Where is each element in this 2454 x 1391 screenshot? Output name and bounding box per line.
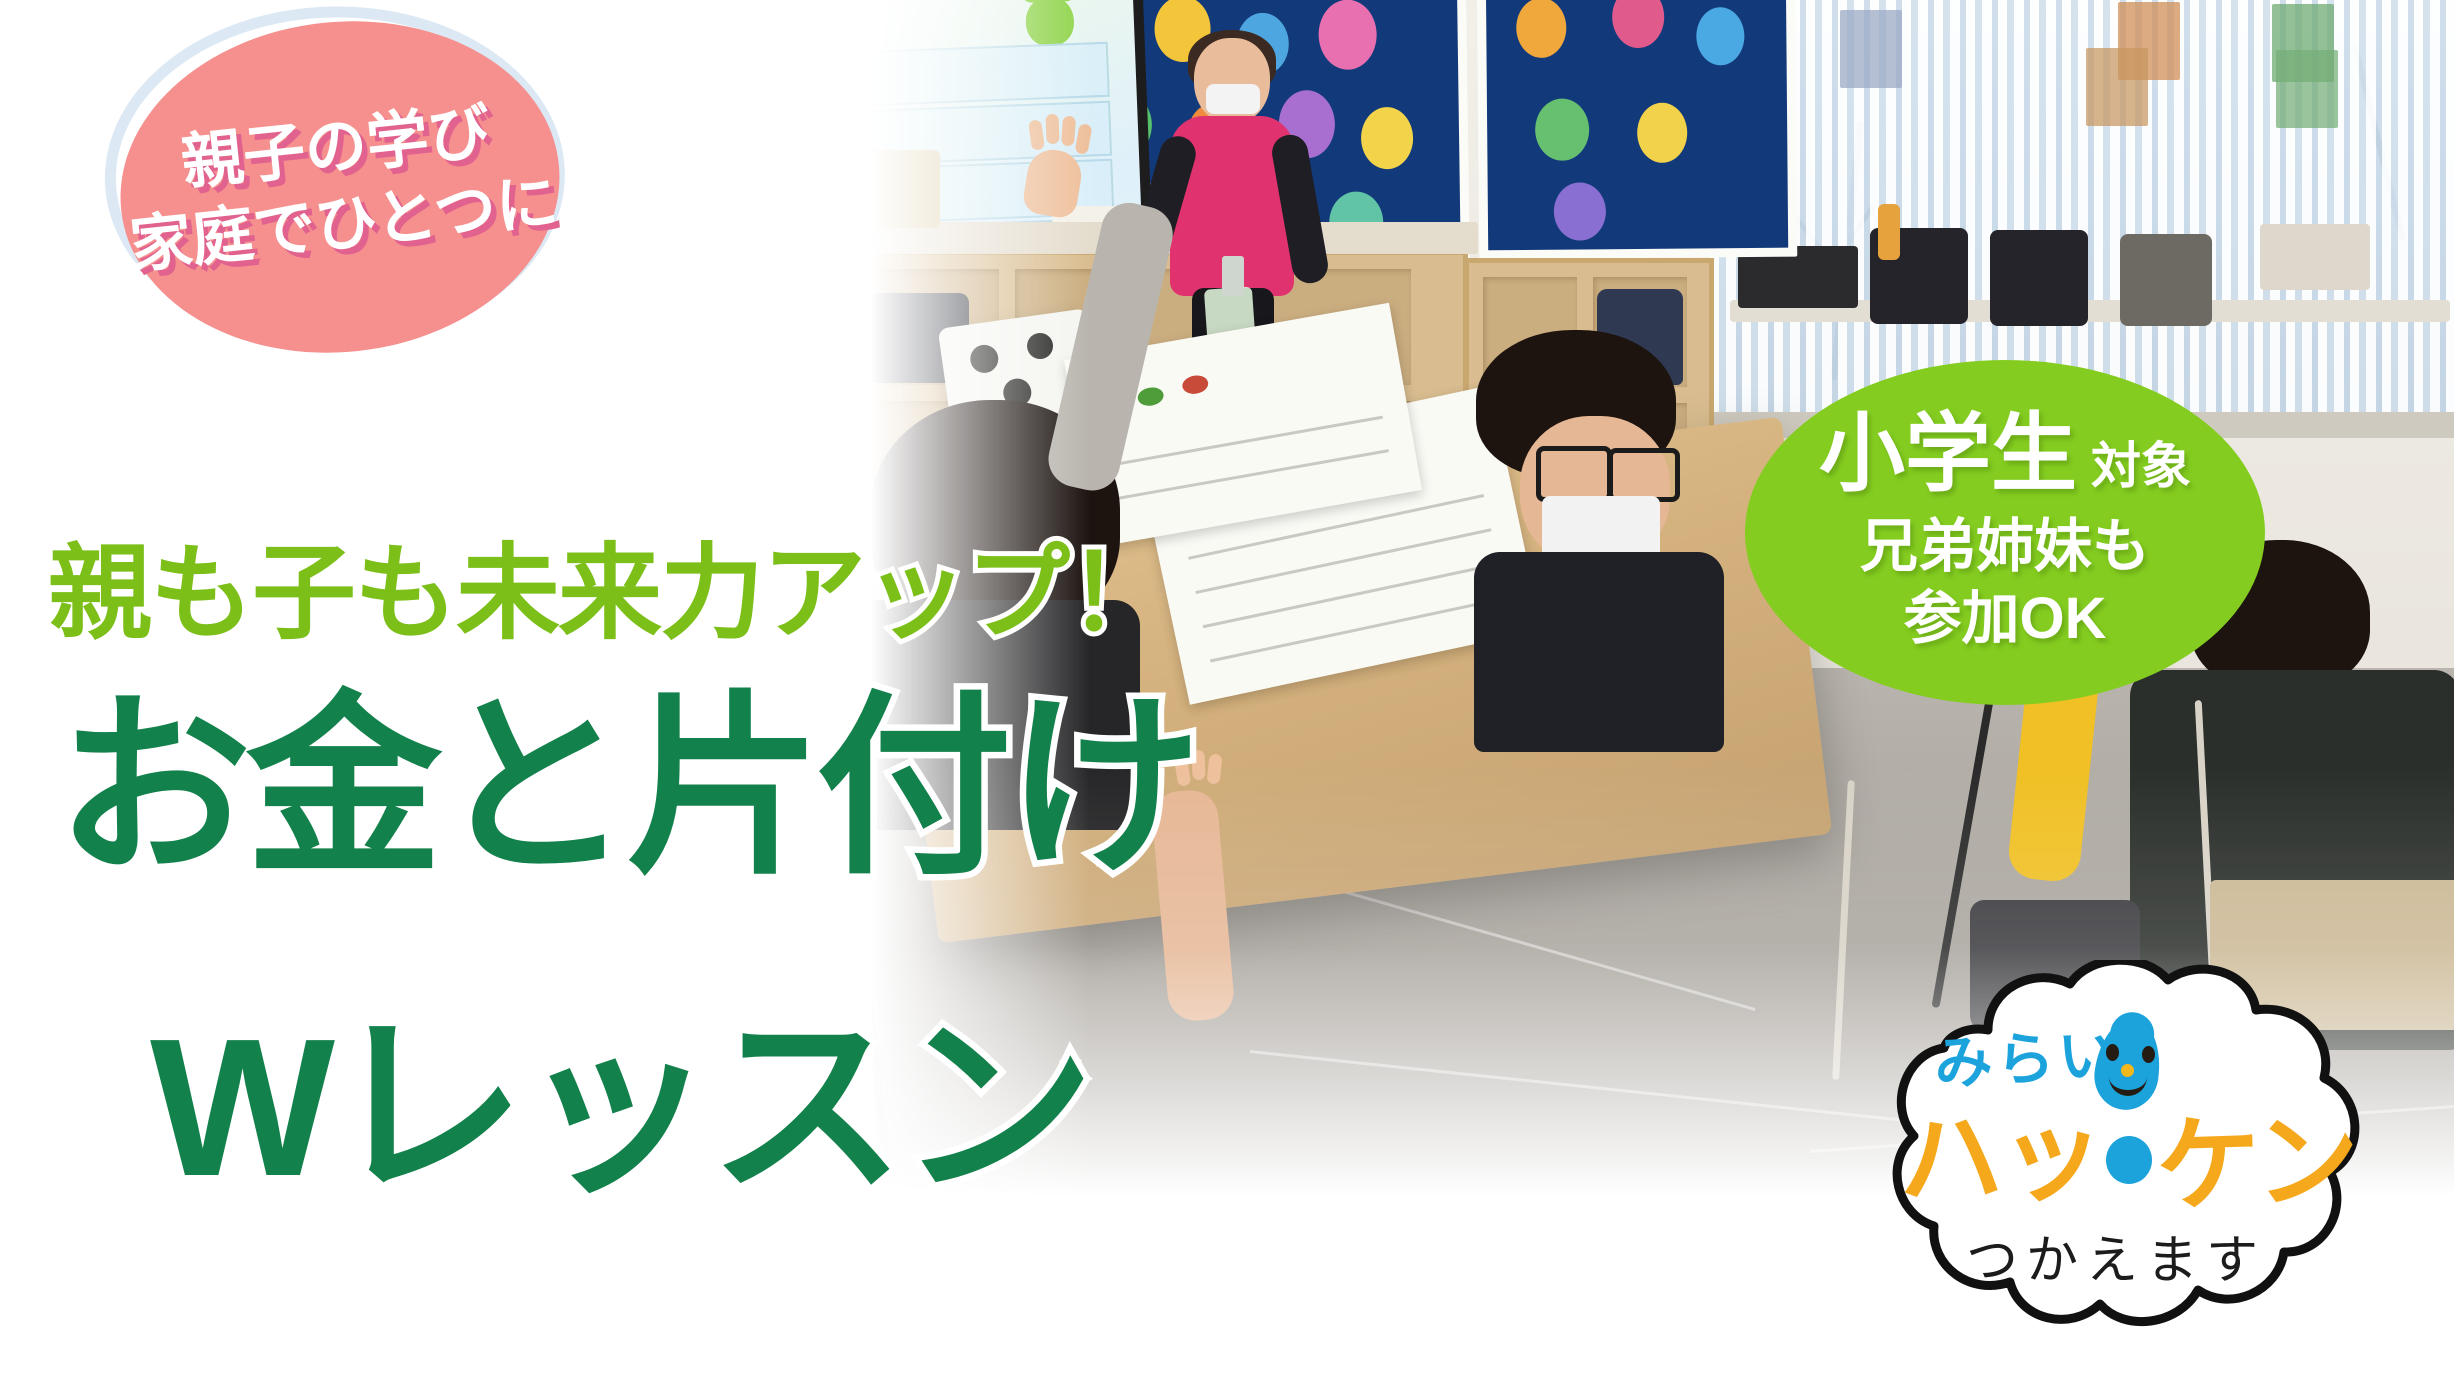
child-with-glasses xyxy=(1390,330,1720,750)
bubble-main-label: 小学生 xyxy=(1819,411,2077,497)
subheadline: 親も子も未来力アップ！ xyxy=(48,508,1170,659)
chair xyxy=(1990,230,2088,326)
logo-brand-right: ケン xyxy=(2153,1075,2359,1233)
main-title-line-1: お金と片付け xyxy=(56,690,1196,886)
bubble-sub-label: 対象 xyxy=(2091,441,2191,491)
finger xyxy=(1045,114,1059,144)
logo-tagline: つかえます xyxy=(1966,1218,2266,1293)
sanitizer-bottle xyxy=(1878,204,1900,260)
bubble-note-line-1: 兄弟姉妹も xyxy=(1860,511,2150,583)
bubble-note-line-2: 参加OK xyxy=(1903,583,2106,655)
elementary-student-target-bubble: 小学生 対象 兄弟姉妹も 参加OK xyxy=(1745,360,2265,705)
exclamation-dot-icon xyxy=(2106,1136,2152,1184)
mirai-hakken-cloud-logo: みらい ハッ ケン つかえます xyxy=(1838,960,2398,1355)
wall-paper-square xyxy=(2276,50,2338,128)
mascot-eye-right-icon xyxy=(2142,1046,2155,1063)
promo-banner: 〜はじめます！！ Copyright Kids Money Station Al… xyxy=(0,0,2454,1391)
finger xyxy=(1061,116,1076,147)
logo-brand-left: ハッ xyxy=(1895,1068,2104,1226)
screen-title-text: 〜はじめます！！ xyxy=(830,0,888,46)
basket xyxy=(860,150,940,228)
wall-paper-square xyxy=(2086,48,2148,126)
wall-mural-right xyxy=(1477,0,1798,259)
chair xyxy=(2120,234,2212,326)
wall-paper-square xyxy=(1840,10,1902,88)
parent-child-learning-badge: 親子の学び 家庭でひとつに xyxy=(104,0,576,374)
main-title-line-2: Wレッスン xyxy=(150,1010,1089,1206)
equipment-box xyxy=(2260,224,2370,290)
mascot-eye-left-icon xyxy=(2106,1044,2119,1061)
sanitizer-nozzle xyxy=(1222,256,1244,296)
